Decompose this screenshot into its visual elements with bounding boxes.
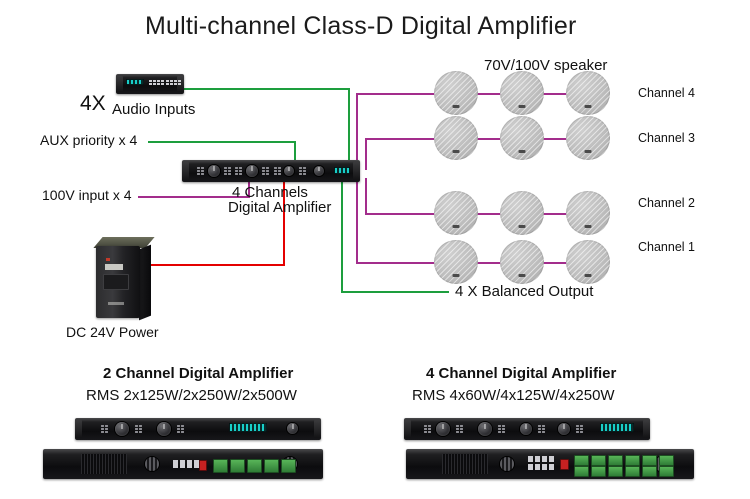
p2-knob-1[interactable] bbox=[436, 422, 450, 436]
p1-rear-dipswitches[interactable] bbox=[173, 460, 199, 468]
p1-knob-2[interactable] bbox=[157, 422, 171, 436]
audio-input-line-vertical bbox=[348, 88, 350, 162]
balanced-output-line-horizontal bbox=[341, 291, 449, 293]
balanced-output-line-vertical bbox=[341, 178, 343, 293]
p2-rear-dipswitches-top[interactable] bbox=[528, 456, 554, 470]
channel-label-3: Channel 3 bbox=[638, 131, 695, 145]
input-100v-label: 100V input x 4 bbox=[42, 187, 132, 203]
rack-ear-left-icon bbox=[116, 76, 123, 93]
amp-leds-5 bbox=[274, 167, 282, 175]
ups-brand-plate bbox=[108, 302, 124, 305]
p2-lcd-display bbox=[600, 423, 634, 432]
speaker-ch4-3 bbox=[566, 71, 610, 115]
dc-power-supply-unit bbox=[96, 246, 140, 318]
p2-knob-3[interactable] bbox=[520, 423, 532, 435]
dc-power-line-horizontal bbox=[140, 264, 285, 266]
amp-leds-4 bbox=[262, 167, 270, 175]
product-2-front-panel bbox=[404, 418, 650, 440]
product-1-rms: RMS 2x125W/2x250W/2x500W bbox=[86, 387, 297, 404]
speaker-bus-ch2 bbox=[365, 178, 367, 215]
product-2-name: 4 Channel Digital Amplifier bbox=[426, 365, 616, 382]
ups-display bbox=[105, 264, 123, 270]
balanced-output-label: 4 X Balanced Output bbox=[455, 283, 593, 300]
p1-lcd-display bbox=[229, 423, 267, 432]
product-1-front-panel bbox=[75, 418, 321, 440]
p2-leds-5 bbox=[576, 425, 584, 433]
audio-input-device bbox=[116, 74, 184, 94]
product-1-name: 2 Channel Digital Amplifier bbox=[103, 365, 293, 382]
aux-priority-label: AUX priority x 4 bbox=[40, 132, 137, 148]
p2-rear-fan-left bbox=[500, 457, 514, 471]
speaker-bus-ch3 bbox=[365, 138, 367, 170]
input-device-buttons-left bbox=[149, 80, 164, 85]
channel-label-4: Channel 4 bbox=[638, 86, 695, 100]
speaker-ch2-1 bbox=[434, 191, 478, 235]
amp-ear-right-icon bbox=[353, 162, 360, 180]
product-2-rms: RMS 4x60W/4x125W/4x250W bbox=[412, 387, 615, 404]
p2-rear-reset-button[interactable] bbox=[560, 459, 569, 470]
ups-status-led bbox=[106, 258, 110, 261]
page-title: Multi-channel Class-D Digital Amplifier bbox=[145, 12, 577, 41]
p1-leds-1 bbox=[101, 425, 110, 433]
p2-ear-right-icon bbox=[643, 420, 650, 438]
p1-leds-3 bbox=[177, 425, 186, 433]
p1-leds-2 bbox=[135, 425, 144, 433]
speaker-bus-ch1 bbox=[356, 178, 358, 264]
amplifier-system-diagram: Multi-channel Class-D Digital Amplifier bbox=[0, 0, 750, 499]
amp-leds-2 bbox=[224, 167, 232, 175]
p2-rear-vent-left bbox=[442, 454, 488, 474]
p1-rear-vent-left bbox=[81, 454, 127, 474]
p1-power-knob[interactable] bbox=[287, 423, 298, 434]
p1-rear-reset-button[interactable] bbox=[199, 460, 207, 471]
amp-leds-3 bbox=[235, 167, 243, 175]
ups-side-face bbox=[139, 245, 151, 320]
channel-label-2: Channel 2 bbox=[638, 196, 695, 210]
p2-leds-2 bbox=[456, 425, 464, 433]
amplifier-label-line2: Digital Amplifier bbox=[228, 199, 331, 216]
p2-rear-terminal-row-top[interactable] bbox=[574, 455, 674, 466]
p2-knob-4[interactable] bbox=[558, 423, 570, 435]
amp-knob-4[interactable] bbox=[314, 166, 324, 176]
speaker-ch3-1 bbox=[434, 116, 478, 160]
amp-ear-left-icon bbox=[182, 162, 189, 180]
aux-priority-line-horizontal bbox=[148, 141, 296, 143]
amp-knob-1[interactable] bbox=[208, 165, 220, 177]
audio-input-line-horizontal bbox=[182, 88, 350, 90]
p1-rear-terminal-block[interactable] bbox=[213, 459, 296, 473]
p2-rear-terminal-row-bottom[interactable] bbox=[574, 466, 674, 477]
speaker-ch2-2 bbox=[500, 191, 544, 235]
speaker-ch4-1 bbox=[434, 71, 478, 115]
speaker-bus-ch4 bbox=[356, 93, 358, 169]
input-device-display bbox=[126, 79, 144, 85]
product-1-rear-panel bbox=[43, 449, 323, 479]
audio-inputs-quantity-label: 4X bbox=[80, 92, 106, 116]
p2-leds-3 bbox=[498, 425, 506, 433]
amp-knob-3[interactable] bbox=[284, 166, 294, 176]
amp-lcd-display bbox=[334, 167, 350, 174]
speaker-ch1-3 bbox=[566, 240, 610, 284]
p1-ear-right-icon bbox=[314, 420, 321, 438]
speaker-ch3-2 bbox=[500, 116, 544, 160]
speaker-ch4-2 bbox=[500, 71, 544, 115]
ups-control-panel bbox=[103, 274, 129, 290]
p1-ear-left-icon bbox=[75, 420, 82, 438]
product-2-rear-panel bbox=[406, 449, 694, 479]
speaker-line-ch1 bbox=[356, 262, 446, 264]
p2-leds-4 bbox=[538, 425, 546, 433]
input-device-buttons-right bbox=[166, 80, 181, 85]
amp-leds-6 bbox=[299, 167, 307, 175]
p2-knob-2[interactable] bbox=[478, 422, 492, 436]
speaker-ch3-3 bbox=[566, 116, 610, 160]
p1-rear-fan-left bbox=[145, 457, 159, 471]
speaker-ch2-3 bbox=[566, 191, 610, 235]
main-digital-amplifier bbox=[182, 160, 360, 182]
speaker-ch1-2 bbox=[500, 240, 544, 284]
amp-leds-1 bbox=[197, 167, 205, 175]
amp-knob-2[interactable] bbox=[246, 165, 258, 177]
p2-leds-1 bbox=[424, 425, 432, 433]
audio-inputs-label: Audio Inputs bbox=[112, 101, 195, 118]
dc-power-label: DC 24V Power bbox=[66, 324, 159, 340]
p1-knob-1[interactable] bbox=[115, 422, 129, 436]
speaker-line-ch4 bbox=[356, 93, 446, 95]
speaker-ch1-1 bbox=[434, 240, 478, 284]
channel-label-1: Channel 1 bbox=[638, 240, 695, 254]
p2-ear-left-icon bbox=[404, 420, 411, 438]
